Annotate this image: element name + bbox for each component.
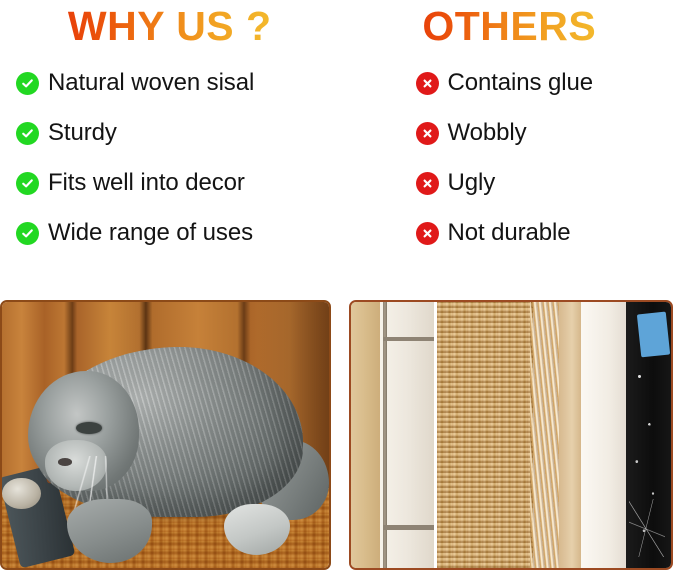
list-item: Not durable xyxy=(416,208,679,258)
rail-crossbar-bottom xyxy=(383,525,434,529)
list-item: Wobbly xyxy=(416,108,679,158)
list-item-label: Contains glue xyxy=(448,69,593,97)
why-us-title: WHY US ? xyxy=(68,1,272,51)
cat-eye xyxy=(76,422,102,434)
frayed-sisal-mat-photo xyxy=(349,300,673,570)
others-list: Contains glue Wobbly Ugly xyxy=(340,58,679,298)
list-item-label: Sturdy xyxy=(48,119,117,147)
frayed-sisal-photo-content xyxy=(351,302,671,568)
cat-on-sisal-mat-photo xyxy=(0,300,331,570)
wood-panel-left xyxy=(351,302,380,568)
x-circle-icon xyxy=(416,72,439,95)
headings-row: WHY US ? OTHERS xyxy=(0,0,679,58)
x-circle-icon xyxy=(416,172,439,195)
check-circle-icon xyxy=(16,172,39,195)
list-item-label: Natural woven sisal xyxy=(48,69,254,97)
list-item: Sturdy xyxy=(16,108,340,158)
cat-photo-content xyxy=(2,302,329,568)
scratch-marks xyxy=(629,499,664,558)
others-title: OTHERS xyxy=(422,1,596,51)
comparison-infographic: WHY US ? OTHERS Natural woven sisal xyxy=(0,0,679,577)
list-item-label: Ugly xyxy=(448,169,496,197)
sisal-weave-panel xyxy=(437,302,533,568)
list-item: Natural woven sisal xyxy=(16,58,340,108)
blue-tape xyxy=(637,311,670,356)
list-item-label: Wobbly xyxy=(448,119,527,147)
list-item-label: Not durable xyxy=(448,219,571,247)
comparison-lists: Natural woven sisal Sturdy Fits well int… xyxy=(0,58,679,298)
rail-crossbar-top xyxy=(383,337,434,341)
why-us-list: Natural woven sisal Sturdy Fits well int… xyxy=(0,58,340,298)
list-item-label: Wide range of uses xyxy=(48,219,253,247)
check-circle-icon xyxy=(16,122,39,145)
check-circle-icon xyxy=(16,222,39,245)
white-panel-right xyxy=(581,302,629,568)
x-circle-icon xyxy=(416,122,439,145)
why-us-heading-cell: WHY US ? xyxy=(0,0,340,51)
list-item: Fits well into decor xyxy=(16,158,340,208)
list-item: Contains glue xyxy=(416,58,679,108)
list-item: Ugly xyxy=(416,158,679,208)
check-circle-icon xyxy=(16,72,39,95)
x-circle-icon xyxy=(416,222,439,245)
photos-row xyxy=(0,300,679,572)
others-heading-cell: OTHERS xyxy=(340,0,679,51)
list-item: Wide range of uses xyxy=(16,208,340,258)
frayed-sisal-edge xyxy=(530,302,562,568)
list-item-label: Fits well into decor xyxy=(48,169,245,197)
